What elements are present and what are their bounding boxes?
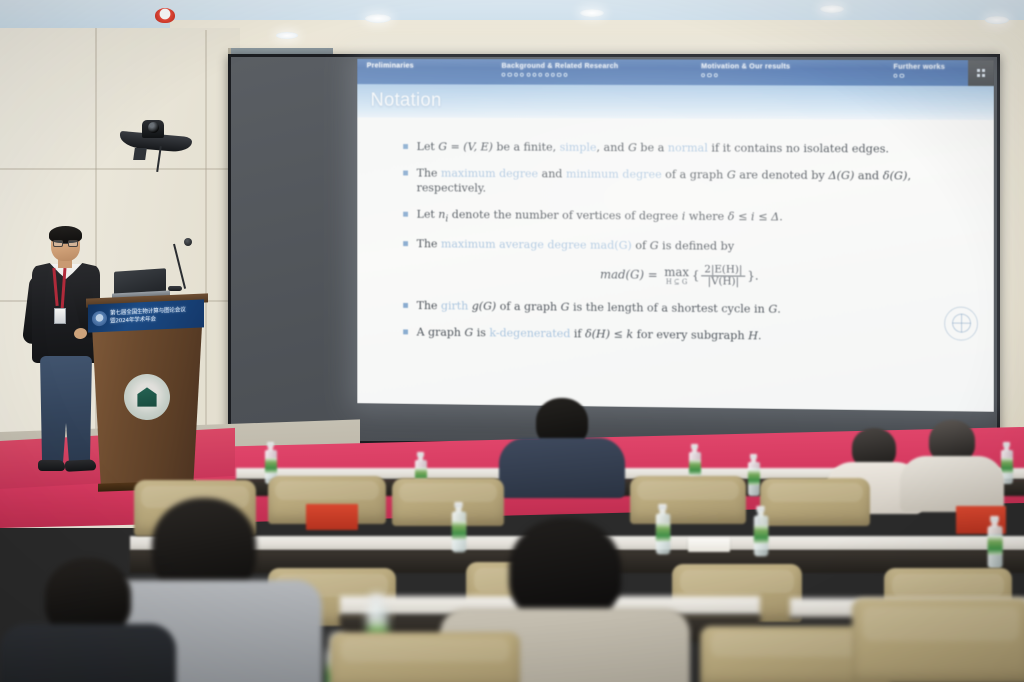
bullet-text-part: G	[650, 238, 659, 252]
bullet-text-part: G	[438, 139, 447, 153]
bullet-text-part: The	[417, 236, 441, 250]
bullet-text-part: g(G)	[472, 299, 496, 313]
bullet-text-part: be a	[637, 140, 668, 154]
nav-section-preliminaries[interactable]: Preliminaries	[357, 59, 492, 85]
bullet-text-part: δ(G)	[883, 168, 908, 182]
slide-canvas: Preliminaries Background & Related Resea…	[357, 59, 994, 412]
bullet-text-part: minimum degree	[566, 166, 662, 180]
bullet-max-min-degree: The maximum degree and minimum degree of…	[403, 165, 960, 200]
chair	[330, 632, 520, 682]
nav-section-label: Preliminaries	[367, 61, 492, 70]
bullet-simple-normal: Let G = (V, E) be a finite, simple, and …	[403, 139, 960, 157]
bullet-text-part: .	[777, 302, 781, 316]
bullet-text-part: maximum degree	[441, 166, 538, 180]
bullet-text-part: .	[779, 210, 783, 224]
bullet-text-part: k-degenerated	[489, 326, 570, 341]
formula-max-label: max	[664, 266, 689, 278]
slide-body: Let G = (V, E) be a finite, simple, and …	[357, 117, 994, 346]
audience-member	[498, 398, 626, 494]
bullet-text-part: A graph	[417, 325, 465, 339]
projected-slide: Preliminaries Background & Related Resea…	[357, 59, 994, 412]
bullet-text: A graph G is k-degenerated if δ(H) ≤ k f…	[417, 325, 960, 347]
bullet-square-icon	[403, 170, 408, 175]
bullet-text-part: are denoted by	[736, 167, 829, 181]
bullet-text-part: δ ≤ i ≤ Δ	[728, 209, 779, 223]
formula-period: .	[755, 269, 759, 283]
bullet-text-part: The	[417, 299, 441, 313]
bullet-text-part: and	[538, 166, 566, 180]
bullet-text-part: of a graph	[496, 299, 560, 313]
bullet-text-part: δ(H) ≤ k	[585, 327, 633, 341]
presenter-badge	[54, 308, 66, 324]
bullet-text-part: normal	[668, 140, 708, 154]
slide-nav-bar: Preliminaries Background & Related Resea…	[357, 59, 994, 86]
formula-numerator: 2|E(H)|	[701, 265, 745, 276]
nav-section-dots	[701, 73, 883, 78]
bullet-text-part: is the length of a shortest cycle in	[569, 300, 768, 316]
bullet-text-part: if	[570, 326, 585, 340]
nav-section-label: Background & Related Research	[502, 61, 692, 70]
bullet-square-icon	[403, 144, 408, 149]
ceiling-light	[276, 32, 298, 39]
bullet-text-part: of a graph	[662, 167, 727, 181]
formula-max-operator: maxH ⊆ G	[664, 266, 689, 286]
bullet-text-part: simple	[560, 140, 597, 154]
formula-lhs: mad(G)	[600, 268, 644, 282]
bullet-text-part: n	[438, 207, 445, 221]
bullet-text-part: Δ(G)	[828, 168, 854, 182]
bullet-text-part: where	[685, 209, 727, 223]
bullet-text-part: of	[632, 238, 650, 252]
bullet-girth: The girth g(G) of a graph G is the lengt…	[403, 298, 960, 319]
bullet-text-part: =	[447, 139, 463, 153]
bullet-text-part: and	[854, 168, 882, 182]
bullet-text-part: be a finite,	[493, 140, 560, 154]
bullet-text-part: G	[464, 325, 473, 339]
bullet-text-part: .	[758, 328, 762, 342]
bullet-square-icon	[403, 303, 408, 308]
bullet-text: The maximum average degree mad(G) of G i…	[417, 236, 960, 256]
banner-seal-icon	[92, 310, 107, 326]
fire-alarm-icon	[155, 8, 175, 23]
bullet-text-part: maximum average degree mad(G)	[441, 236, 632, 251]
bullet-text-part: girth	[441, 299, 468, 313]
bullet-text-part: G	[768, 302, 777, 316]
ceiling-light	[580, 9, 604, 17]
ceiling-light	[820, 5, 844, 13]
bullet-mad: The maximum average degree mad(G) of G i…	[403, 236, 960, 256]
bullet-text-part: if it contains no isolated edges.	[708, 141, 889, 156]
formula-max-subscript: H ⊆ G	[664, 278, 689, 286]
bullet-square-icon	[403, 212, 408, 217]
bullet-text: The girth g(G) of a graph G is the lengt…	[417, 299, 960, 320]
bullet-text: Let G = (V, E) be a finite, simple, and …	[417, 139, 960, 157]
audience-member	[900, 420, 1004, 506]
formula-denominator: |V(H)|	[701, 276, 745, 288]
chair	[852, 598, 1024, 682]
nav-section-dots	[502, 72, 692, 77]
formula-open-brace: {	[692, 269, 699, 283]
bullet-text-part: for every subgraph	[633, 327, 748, 342]
wall-seam	[0, 168, 230, 170]
bullet-text-part: Let	[417, 207, 439, 221]
bullet-n-i: Let ni denote the number of vertices of …	[403, 207, 960, 229]
podium-banner: 第七届全国生物计算与图论会议 暨2024年学术年会	[88, 299, 204, 332]
formula-equals: =	[644, 268, 661, 282]
nav-section-label: Further works	[893, 62, 968, 71]
bullet-text: Let ni denote the number of vertices of …	[417, 207, 960, 229]
nav-section-label: Motivation & Our results	[701, 61, 883, 70]
audience-area	[0, 420, 1024, 682]
audience-member	[0, 558, 176, 682]
bullet-text-part: Let	[417, 139, 439, 153]
ceiling-light	[985, 16, 1009, 24]
nav-section-motivation[interactable]: Motivation & Our results	[691, 59, 883, 85]
bullet-text-part: (V, E)	[463, 139, 493, 153]
mad-formula: mad(G) = maxH ⊆ G{2|E(H)||V(H)|}.	[403, 262, 960, 290]
bullet-text-part: denote the number of vertices of degree	[448, 207, 681, 223]
university-crest-icon	[124, 374, 170, 420]
nav-section-further-works[interactable]: Further works	[884, 60, 969, 86]
nav-section-dots	[893, 73, 968, 77]
bullet-text-part: G	[727, 167, 736, 181]
university-seal-watermark	[944, 306, 978, 340]
grid-icon	[977, 69, 985, 77]
chair	[760, 478, 870, 526]
glasses-icon	[53, 240, 78, 247]
formula-close-brace: }	[747, 269, 755, 283]
bullet-text-part: G	[561, 300, 570, 314]
lecture-hall-photo: Preliminaries Background & Related Resea…	[0, 0, 1024, 682]
ceiling-light	[365, 14, 391, 23]
formula-fraction: 2|E(H)||V(H)|	[701, 265, 745, 288]
bullet-text-part: G	[628, 140, 637, 154]
bullet-text: The maximum degree and minimum degree of…	[417, 165, 960, 200]
chair	[630, 476, 746, 524]
nav-section-background[interactable]: Background & Related Research	[492, 59, 691, 85]
microphone-icon	[168, 238, 194, 290]
bullet-text-part: The	[417, 165, 441, 179]
bullet-k-degenerated: A graph G is k-degenerated if δ(H) ≤ k f…	[403, 325, 960, 347]
ptz-camera-icon	[120, 118, 200, 158]
bullet-text-part: H	[748, 328, 758, 342]
bullet-text-part: , and	[597, 140, 628, 154]
slide-corner-button[interactable]	[968, 60, 994, 86]
bullet-square-icon	[403, 241, 408, 246]
document-stack	[688, 538, 730, 552]
podium-banner-text: 第七届全国生物计算与图论会议 暨2024年学术年会	[110, 305, 204, 325]
bullet-square-icon	[403, 329, 408, 334]
slide-title-band: Notation	[357, 84, 994, 120]
slide-title: Notation	[357, 90, 442, 112]
bullet-text-part: is	[473, 325, 489, 339]
bullet-text-part: is defined by	[659, 238, 735, 252]
